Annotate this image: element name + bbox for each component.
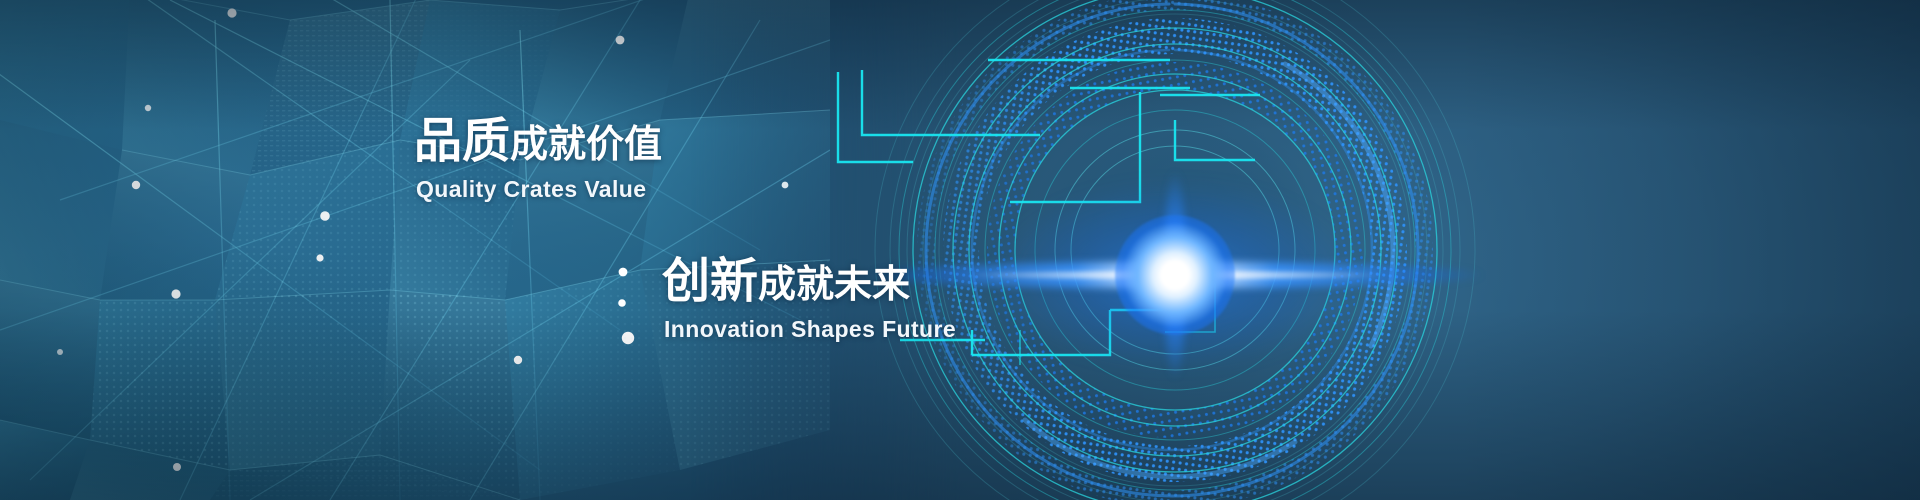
tagline-quality-chinese-rest: 成就价值 [510, 124, 662, 166]
tagline-innovation-chinese-rest: 成就未来 [758, 264, 910, 306]
tagline-quality: 品质成就价值 Quality Crates Value [414, 118, 662, 203]
tagline-quality-chinese: 品质成就价值 [414, 118, 662, 166]
tagline-layer: 品质成就价值 Quality Crates Value 创新成就未来 Innov… [0, 0, 1920, 500]
tagline-innovation-chinese-emphasis: 创新 [662, 255, 758, 308]
tagline-innovation-english: Innovation Shapes Future [664, 316, 956, 343]
tagline-quality-chinese-emphasis: 品质 [414, 115, 510, 168]
hero-banner: 品质成就价值 Quality Crates Value 创新成就未来 Innov… [0, 0, 1920, 500]
tagline-innovation-chinese: 创新成就未来 [662, 258, 956, 306]
tagline-innovation: 创新成就未来 Innovation Shapes Future [662, 258, 956, 343]
tagline-quality-english: Quality Crates Value [416, 176, 662, 203]
